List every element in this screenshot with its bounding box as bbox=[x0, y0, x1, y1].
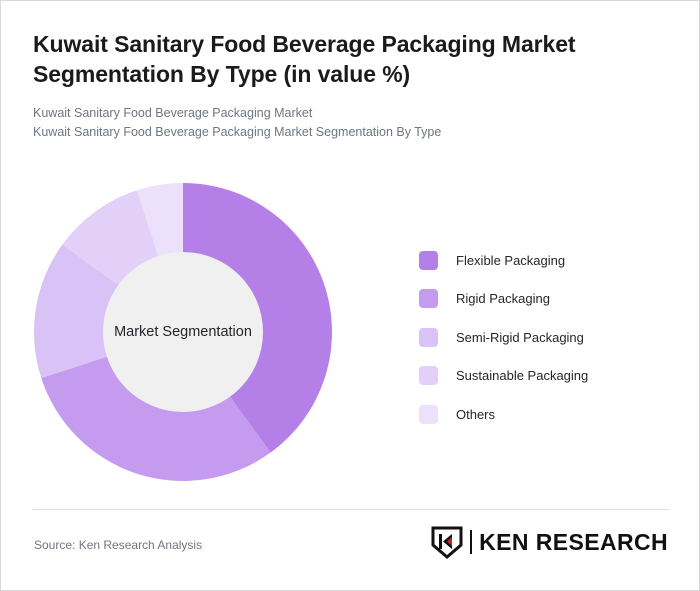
chart-card: Kuwait Sanitary Food Beverage Packaging … bbox=[0, 0, 700, 591]
footer-divider bbox=[33, 509, 669, 510]
source-note: Source: Ken Research Analysis bbox=[34, 538, 202, 552]
legend-swatch-icon bbox=[419, 251, 438, 270]
subtitle-line-1: Kuwait Sanitary Food Beverage Packaging … bbox=[33, 104, 653, 123]
chart-area: Market Segmentation Flexible PackagingRi… bbox=[1, 171, 700, 501]
legend-swatch-icon bbox=[419, 405, 438, 424]
brand-wordmark: KEN RESEARCH bbox=[479, 529, 668, 556]
chart-legend: Flexible PackagingRigid PackagingSemi-Ri… bbox=[419, 241, 669, 434]
donut-hole bbox=[103, 252, 263, 412]
legend-swatch-icon bbox=[419, 366, 438, 385]
donut-svg bbox=[34, 183, 332, 481]
legend-item[interactable]: Rigid Packaging bbox=[419, 280, 669, 319]
legend-label: Sustainable Packaging bbox=[456, 368, 588, 383]
chart-header: Kuwait Sanitary Food Beverage Packaging … bbox=[33, 29, 653, 142]
legend-swatch-icon bbox=[419, 289, 438, 308]
logo-divider bbox=[470, 530, 472, 554]
legend-item[interactable]: Others bbox=[419, 395, 669, 434]
legend-item[interactable]: Semi-Rigid Packaging bbox=[419, 318, 669, 357]
brand-logo: KEN RESEARCH bbox=[430, 525, 668, 559]
subtitle-block: Kuwait Sanitary Food Beverage Packaging … bbox=[33, 104, 653, 143]
legend-label: Rigid Packaging bbox=[456, 291, 550, 306]
legend-label: Others bbox=[456, 407, 495, 422]
legend-item[interactable]: Flexible Packaging bbox=[419, 241, 669, 280]
legend-label: Flexible Packaging bbox=[456, 253, 565, 268]
legend-swatch-icon bbox=[419, 328, 438, 347]
donut-chart: Market Segmentation bbox=[34, 183, 332, 481]
subtitle-line-2: Kuwait Sanitary Food Beverage Packaging … bbox=[33, 123, 653, 142]
legend-item[interactable]: Sustainable Packaging bbox=[419, 357, 669, 396]
page-title: Kuwait Sanitary Food Beverage Packaging … bbox=[33, 29, 653, 90]
ken-research-shield-icon bbox=[430, 525, 464, 559]
legend-label: Semi-Rigid Packaging bbox=[456, 330, 584, 345]
